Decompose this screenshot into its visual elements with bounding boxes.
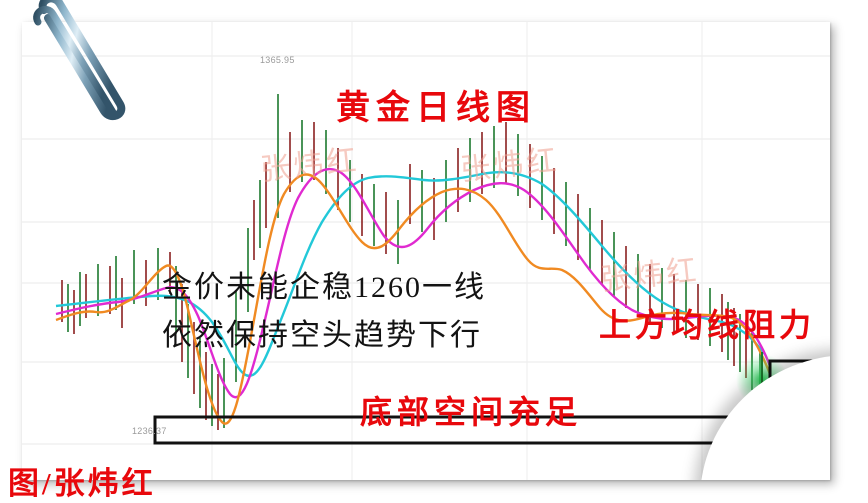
- analysis-text-line-1: 金价未能企稳1260一线: [162, 262, 486, 306]
- image-canvas: 1365.95 1236.37 张炜红 张炜红 张炜红 黄金日线图 金价未能企稳…: [0, 0, 868, 503]
- high-price-label: 1365.95: [260, 55, 295, 65]
- resistance-annotation: 上方均线阻力: [599, 300, 815, 346]
- low-price-label: 1236.37: [132, 426, 167, 436]
- chart-title-annotation: 黄金日线图: [336, 80, 536, 129]
- credit-line: 图/张炜红: [8, 458, 156, 503]
- paperclip-icon: [24, 0, 154, 121]
- analysis-text-line-2: 依然保持空头趋势下行: [162, 310, 482, 354]
- support-annotation: 底部空间充足: [360, 387, 582, 433]
